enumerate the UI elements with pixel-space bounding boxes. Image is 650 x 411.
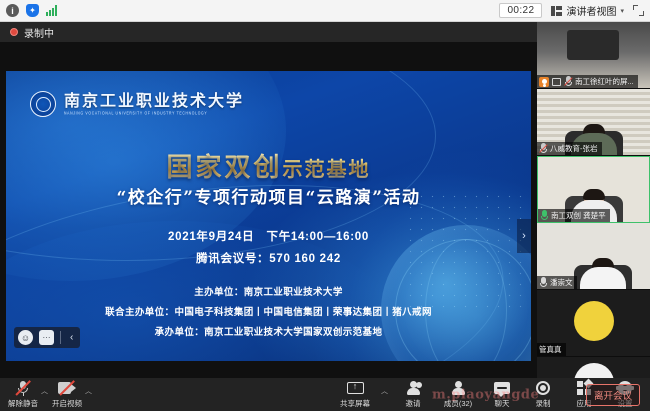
- leave-meeting-button[interactable]: 离开会议: [586, 384, 640, 406]
- shield-icon[interactable]: ✦: [26, 4, 39, 17]
- recording-dot-icon: [10, 28, 18, 36]
- slide-title-main: 国家双创示范基地: [6, 147, 531, 184]
- view-mode-label: 演讲者视图: [566, 3, 616, 18]
- next-slide-arrow-icon[interactable]: ›: [517, 219, 531, 253]
- browser-top-bar: i ✦ 00:22 演讲者视图 ▾: [0, 0, 650, 22]
- university-name-en: NANJING VOCATIONAL UNIVERSITY OF INDUSTR…: [64, 111, 244, 116]
- view-mode-selector[interactable]: 演讲者视图 ▾: [551, 3, 624, 18]
- participant-tile[interactable]: 管真真: [537, 290, 650, 357]
- university-crest-icon: [30, 91, 56, 117]
- meeting-timer: 00:22: [499, 3, 542, 18]
- slide-floating-toolbar[interactable]: ☺ ··· ‹: [14, 327, 80, 348]
- collapse-icon[interactable]: ‹: [67, 332, 76, 343]
- participant-name-bar: 八威教育-张岩: [537, 142, 602, 155]
- share-screen-button[interactable]: 共享屏幕: [333, 381, 377, 409]
- recording-label: 录制中: [24, 25, 54, 40]
- camera-off-icon: [58, 381, 76, 396]
- share-screen-icon: [347, 381, 364, 396]
- info-icon[interactable]: i: [6, 4, 19, 17]
- recording-indicator-bar: 录制中: [0, 22, 537, 42]
- participant-video: [537, 357, 650, 378]
- avatar: [574, 363, 614, 378]
- unmute-button[interactable]: 解除静音: [6, 381, 40, 409]
- slide-university-header: 南京工业职业技术大学 NANJING VOCATIONAL UNIVERSITY…: [30, 91, 244, 117]
- meeting-toolbar[interactable]: 解除静音 ︿ 开启视频 ︿ 共享屏幕 ︿ 邀请 成: [0, 378, 650, 411]
- video-chevron-up-icon[interactable]: ︿: [85, 386, 92, 396]
- toolbar-divider: [60, 331, 61, 344]
- participant-tile[interactable]: 潘崇文: [537, 223, 650, 290]
- microphone-active-icon: [540, 210, 548, 221]
- layout-icon: [551, 6, 562, 16]
- top-bar-right-group: 00:22 演讲者视图 ▾: [499, 3, 644, 18]
- share-screen-label: 共享屏幕: [340, 398, 370, 409]
- emoji-icon[interactable]: ☺: [18, 330, 33, 345]
- share-chevron-up-icon[interactable]: ︿: [381, 386, 388, 396]
- slide-meeting-number: 腾讯会议号：570 160 242: [6, 250, 531, 266]
- host-badge-icon: [539, 77, 549, 87]
- microphone-off-icon: [539, 277, 547, 288]
- signal-bars-icon[interactable]: [46, 5, 57, 16]
- start-video-label: 开启视频: [52, 398, 82, 409]
- screen-share-icon: [552, 78, 561, 86]
- participant-name-bar: 南工双创 龚楚平: [538, 209, 610, 222]
- slide-title-sub: “校企行”专项行动项目“云路演”活动: [6, 183, 531, 208]
- unmute-chevron-up-icon[interactable]: ︿: [41, 386, 48, 396]
- participant-rail[interactable]: 南工徐红叶的屏... 八威教育-张岩 南工双创 龚楚平: [537, 22, 650, 378]
- slide-co-host-orgs: 联合主办单位：中国电子科技集团丨中国电信集团丨荣事达集团丨猪八戒网: [6, 304, 531, 318]
- participant-name: 南工徐红叶的屏...: [575, 76, 634, 87]
- start-video-button[interactable]: 开启视频: [50, 381, 84, 409]
- slide-organizer-org: 承办单位：南京工业职业技术大学国家双创示范基地: [6, 324, 531, 338]
- chat-bubble-icon[interactable]: ···: [39, 330, 54, 345]
- participant-tile[interactable]: 八威教育-张岩: [537, 89, 650, 156]
- participant-tile[interactable]: [537, 357, 650, 378]
- fullscreen-icon[interactable]: [633, 5, 644, 16]
- university-name-cn: 南京工业职业技术大学: [64, 93, 244, 110]
- invite-label: 邀请: [406, 398, 421, 409]
- top-bar-icon-group: i ✦: [6, 4, 57, 17]
- participant-name-bar: 南工徐红叶的屏...: [537, 75, 638, 88]
- slide-host-org: 主办单位：南京工业职业技术大学: [6, 284, 531, 298]
- shared-screen-stage[interactable]: 南京工业职业技术大学 NANJING VOCATIONAL UNIVERSITY…: [0, 42, 537, 378]
- watermark-text: m.piaoyangde: [432, 387, 539, 402]
- toolbar-left-group: 解除静音 ︿ 开启视频 ︿: [0, 381, 94, 409]
- invite-button[interactable]: 邀请: [393, 381, 433, 409]
- invite-person-icon: [406, 381, 420, 396]
- participant-tile-active-speaker[interactable]: 南工双创 龚楚平: [537, 156, 650, 223]
- unmute-label: 解除静音: [8, 398, 38, 409]
- participant-name: 管真真: [539, 344, 562, 355]
- slide-title-main-suffix: 示范基地: [283, 157, 371, 181]
- microphone-muted-icon: [539, 143, 547, 154]
- participant-name: 八威教育-张岩: [550, 143, 598, 154]
- participant-name-bar: 潘崇文: [537, 276, 577, 289]
- microphone-muted-icon: [564, 76, 572, 87]
- chevron-down-icon[interactable]: ▾: [620, 7, 624, 15]
- avatar: [574, 301, 614, 341]
- participant-name: 潘崇文: [550, 277, 573, 288]
- microphone-muted-icon: [18, 381, 29, 396]
- presentation-slide[interactable]: 南京工业职业技术大学 NANJING VOCATIONAL UNIVERSITY…: [6, 71, 531, 361]
- slide-date-line: 2021年9月24日 下午14:00—16:00: [6, 228, 531, 244]
- slide-title-main-text: 国家双创: [166, 153, 282, 183]
- participant-name: 南工双创 龚楚平: [551, 210, 606, 221]
- participant-tile[interactable]: 南工徐红叶的屏...: [537, 22, 650, 89]
- participant-name-bar: 管真真: [537, 343, 566, 356]
